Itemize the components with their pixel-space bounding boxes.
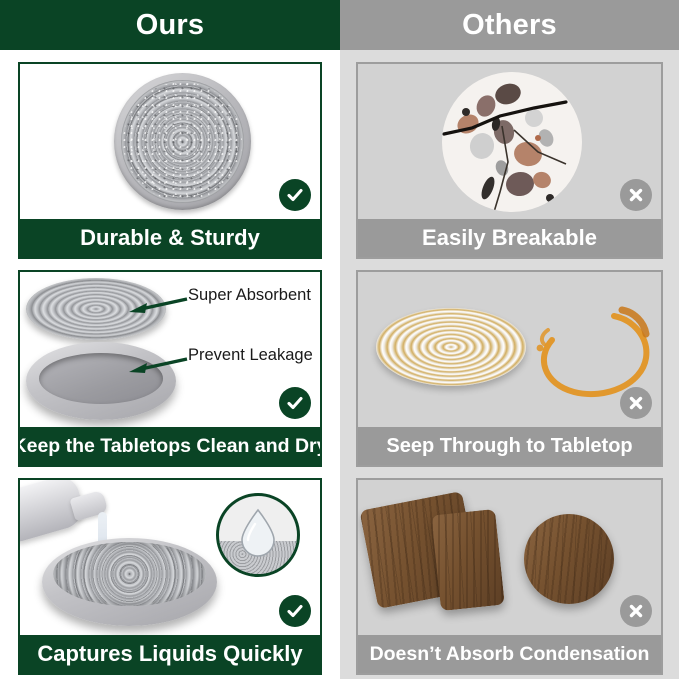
woven-coaster-icon: [114, 73, 251, 210]
card-label-no-absorb: Doesn’t Absorb Condensation: [358, 635, 661, 673]
card-others-breakable[interactable]: Easily Breakable: [356, 62, 663, 259]
card-label-seep-through: Seep Through to Tabletop: [358, 427, 661, 465]
card-others-seep-through[interactable]: Seep Through to Tabletop: [356, 270, 663, 467]
wood-round-coaster-icon: [524, 514, 614, 604]
x-icon: [620, 387, 652, 419]
annotation-super-absorbent: Super Absorbent: [188, 286, 311, 305]
card-label-durable: Durable & Sturdy: [20, 219, 320, 257]
annotation-prevent-leakage: Prevent Leakage: [188, 346, 313, 365]
card-label-breakable: Easily Breakable: [358, 219, 661, 257]
card-image-clean-dry: Super Absorbent Prevent Leakage: [20, 272, 320, 427]
ours-card-list: Durable & Sturdy Super Absorbent: [0, 50, 340, 675]
card-ours-clean-dry[interactable]: Super Absorbent Prevent Leakage Keep the…: [18, 270, 322, 467]
card-label-clean-dry: Keep the Tabletops Clean and Dry: [20, 427, 320, 465]
silicone-tray-icon: [26, 342, 176, 420]
header-others: Others: [340, 0, 679, 50]
card-image-captures-liquids: [20, 480, 320, 635]
card-others-no-absorb[interactable]: Doesn’t Absorb Condensation: [356, 478, 663, 675]
water-drop-absorb-icon: [216, 493, 300, 577]
check-icon: [279, 595, 311, 627]
card-image-breakable: [358, 64, 661, 219]
column-ours: Ours Durable & S: [0, 0, 340, 679]
x-icon: [620, 595, 652, 627]
terrazzo-coaster-icon: [442, 72, 582, 212]
header-ours: Ours: [0, 0, 340, 50]
card-image-durable: [20, 64, 320, 219]
arrow-super-absorbent: [125, 296, 190, 314]
card-image-seep-through: [358, 272, 661, 427]
comparison-board: Ours Durable & S: [0, 0, 679, 679]
arrow-prevent-leakage: [125, 356, 190, 374]
woven-top-icon: [53, 542, 206, 606]
card-image-no-absorb: [358, 480, 661, 635]
x-icon: [620, 179, 652, 211]
card-ours-captures-liquids[interactable]: Captures Liquids Quickly: [18, 478, 322, 675]
column-others: Others: [340, 0, 679, 679]
check-icon: [279, 387, 311, 419]
card-ours-durable[interactable]: Durable & Sturdy: [18, 62, 322, 259]
others-card-list: Easily Breakable: [340, 50, 679, 675]
check-icon: [279, 179, 311, 211]
card-label-captures-liquids: Captures Liquids Quickly: [20, 635, 320, 673]
wood-square-coaster-front-icon: [431, 509, 505, 611]
stained-coaster-icon: [376, 308, 526, 386]
